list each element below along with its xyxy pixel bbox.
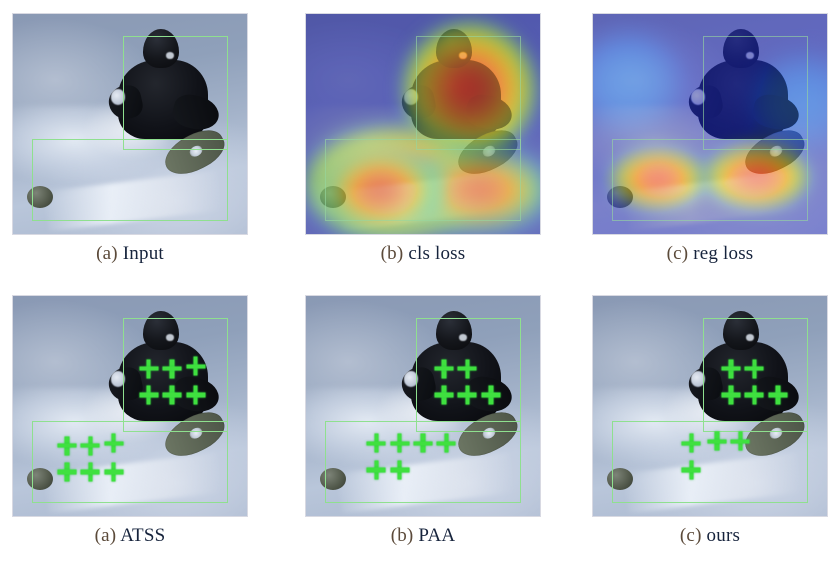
- caption-tag: (b): [381, 243, 404, 264]
- snowboarder-photo: [306, 296, 540, 516]
- rider-glove: [404, 89, 418, 104]
- panel-atss: [12, 295, 248, 517]
- panel-atss-image: [12, 295, 248, 517]
- photo-underlay: [593, 14, 827, 234]
- helmet-glint: [459, 334, 467, 340]
- snowboarder-photo: [593, 296, 827, 516]
- photo-underlay: [306, 14, 540, 234]
- caption-label: ATSS: [120, 525, 165, 546]
- helmet-glint: [746, 334, 754, 340]
- caption-ours: (c) ours: [592, 525, 828, 547]
- panel-ours-image: [592, 295, 828, 517]
- rider-helmet: [723, 29, 759, 67]
- rider-glove: [404, 371, 418, 386]
- panel-ours: [592, 295, 828, 517]
- snow-object-ball: [607, 186, 633, 208]
- snow-object-ball: [320, 186, 346, 208]
- caption-label: ours: [707, 525, 741, 546]
- panel-cls-loss: [305, 13, 541, 235]
- helmet-glint: [166, 334, 174, 340]
- rider-helmet: [436, 311, 472, 349]
- panel-input-image: [12, 13, 248, 235]
- helmet-glint: [459, 52, 467, 58]
- panel-reg-loss: [592, 13, 828, 235]
- caption-atss: (a) ATSS: [12, 525, 248, 547]
- rider-helmet: [723, 311, 759, 349]
- snowboarder-photo: [13, 296, 247, 516]
- caption-input: (a) Input: [12, 243, 248, 265]
- snow-object-ball: [27, 186, 53, 208]
- snowboarder-photo: [13, 14, 247, 234]
- caption-tag: (a): [96, 243, 118, 264]
- rider-glove: [691, 89, 705, 104]
- figure-row-bottom: (a) ATSS: [0, 282, 840, 564]
- rider-glove: [111, 371, 125, 386]
- rider-helmet: [143, 311, 179, 349]
- caption-tag: (b): [391, 525, 414, 546]
- panel-input: [12, 13, 248, 235]
- caption-paa: (b) PAA: [305, 525, 541, 547]
- caption-tag: (c): [680, 525, 702, 546]
- figure-row-top: (a) Input: [0, 0, 840, 282]
- caption-label: Input: [123, 243, 164, 264]
- figure-container: (a) Input: [0, 0, 840, 564]
- panel-paa-image: [305, 295, 541, 517]
- panel-reg-loss-image: [592, 13, 828, 235]
- rider-helmet: [143, 29, 179, 67]
- helmet-glint: [746, 52, 754, 58]
- panel-cls-loss-image: [305, 13, 541, 235]
- helmet-glint: [166, 52, 174, 58]
- caption-cls-loss: (b) cls loss: [305, 243, 541, 265]
- caption-reg-loss: (c) reg loss: [592, 243, 828, 265]
- caption-tag: (a): [95, 525, 117, 546]
- snow-object-ball: [607, 468, 633, 490]
- panel-paa: [305, 295, 541, 517]
- rider-glove: [691, 371, 705, 386]
- snow-object-ball: [320, 468, 346, 490]
- rider-glove: [111, 89, 125, 104]
- caption-label: cls loss: [408, 243, 465, 264]
- caption-label: PAA: [418, 525, 455, 546]
- caption-tag: (c): [667, 243, 689, 264]
- rider-helmet: [436, 29, 472, 67]
- snow-object-ball: [27, 468, 53, 490]
- caption-label: reg loss: [693, 243, 753, 264]
